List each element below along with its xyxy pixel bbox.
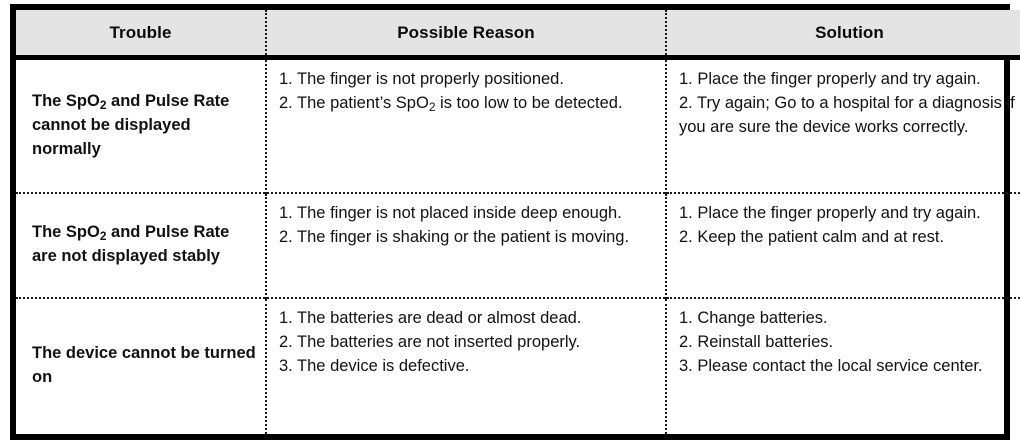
subscript-2: 2 bbox=[429, 100, 436, 114]
solution-list: 1. Change batteries. 2. Reinstall batter… bbox=[679, 307, 1020, 379]
column-header-possible-reason: Possible Reason bbox=[266, 10, 666, 58]
cell-trouble: The SpO2 and Pulse Rate cannot be displa… bbox=[16, 58, 266, 193]
page-root: Trouble Possible Reason Solution The SpO… bbox=[0, 0, 1020, 446]
solution-item: 2. Try again; Go to a hospital for a dia… bbox=[679, 92, 1020, 140]
solution-list: 1. Place the finger properly and try aga… bbox=[679, 202, 1020, 250]
solution-item: 1. Place the finger properly and try aga… bbox=[679, 202, 1020, 226]
reason-item: 1. The finger is not properly positioned… bbox=[279, 68, 655, 92]
solution-list: 1. Place the finger properly and try aga… bbox=[679, 68, 1020, 140]
column-header-solution: Solution bbox=[666, 10, 1020, 58]
cell-trouble: The device cannot be turned on bbox=[16, 298, 266, 434]
trouble-text-part-1: The SpO bbox=[32, 223, 100, 241]
table-header-row: Trouble Possible Reason Solution bbox=[16, 10, 1020, 58]
subscript-2: 2 bbox=[100, 229, 107, 243]
reason-item: 2. The patient’s SpO2 is too low to be d… bbox=[279, 92, 655, 116]
cell-possible-reason: 1. The finger is not placed inside deep … bbox=[266, 193, 666, 298]
trouble-text-part-1: The device cannot be turned on bbox=[32, 344, 256, 386]
cell-possible-reason: 1. The batteries are dead or almost dead… bbox=[266, 298, 666, 434]
solution-item: 2. Keep the patient calm and at rest. bbox=[679, 226, 1020, 250]
reason-text-part-1: 2. The patient’s SpO bbox=[279, 94, 429, 112]
troubleshooting-table-frame: Trouble Possible Reason Solution The SpO… bbox=[10, 4, 1010, 440]
trouble-text-part-1: The SpO bbox=[32, 92, 100, 110]
solution-item: 3. Please contact the local service cent… bbox=[679, 355, 1020, 379]
table-row: The SpO2 and Pulse Rate are not displaye… bbox=[16, 193, 1020, 298]
solution-item: 1. Place the finger properly and try aga… bbox=[679, 68, 1020, 92]
reason-item: 3. The device is defective. bbox=[279, 355, 655, 379]
reason-list: 1. The finger is not properly positioned… bbox=[279, 68, 655, 116]
table-row: The device cannot be turned on 1. The ba… bbox=[16, 298, 1020, 434]
reason-list: 1. The batteries are dead or almost dead… bbox=[279, 307, 655, 379]
cell-trouble: The SpO2 and Pulse Rate are not displaye… bbox=[16, 193, 266, 298]
cell-possible-reason: 1. The finger is not properly positioned… bbox=[266, 58, 666, 193]
subscript-2: 2 bbox=[100, 98, 107, 112]
table-row: The SpO2 and Pulse Rate cannot be displa… bbox=[16, 58, 1020, 193]
reason-text-part-2: is too low to be detected. bbox=[435, 94, 622, 112]
troubleshooting-table: Trouble Possible Reason Solution The SpO… bbox=[16, 10, 1020, 434]
table-header: Trouble Possible Reason Solution bbox=[16, 10, 1020, 58]
cell-solution: 1. Place the finger properly and try aga… bbox=[666, 193, 1020, 298]
reason-item: 1. The finger is not placed inside deep … bbox=[279, 202, 655, 226]
reason-item: 2. The finger is shaking or the patient … bbox=[279, 226, 655, 250]
table-body: The SpO2 and Pulse Rate cannot be displa… bbox=[16, 58, 1020, 435]
solution-item: 1. Change batteries. bbox=[679, 307, 1020, 331]
cell-solution: 1. Place the finger properly and try aga… bbox=[666, 58, 1020, 193]
reason-list: 1. The finger is not placed inside deep … bbox=[279, 202, 655, 250]
reason-item: 1. The batteries are dead or almost dead… bbox=[279, 307, 655, 331]
cell-solution: 1. Change batteries. 2. Reinstall batter… bbox=[666, 298, 1020, 434]
solution-item: 2. Reinstall batteries. bbox=[679, 331, 1020, 355]
column-header-trouble: Trouble bbox=[16, 10, 266, 58]
reason-item: 2. The batteries are not inserted proper… bbox=[279, 331, 655, 355]
